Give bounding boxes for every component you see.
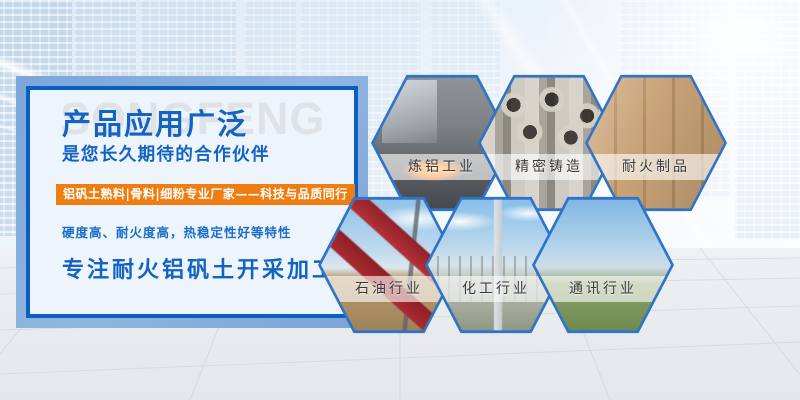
- highlight-badge: 铝矾土熟料|骨料|细粉专业厂家——科技与品质同行: [56, 184, 355, 205]
- tagline-text: 专注耐火铝矾土开采加工: [62, 260, 337, 282]
- hex-label: 耐火制品: [588, 154, 724, 180]
- page-title: 产品应用广泛: [62, 110, 248, 139]
- feature-text: 硬度高、耐火度高，热稳定性好等特性: [62, 227, 292, 240]
- text-panel: SONGFENG 产品应用广泛 是您长久期待的合作伙伴 铝矾土熟料|骨料|细粉专…: [44, 90, 364, 314]
- promo-banner: SONGFENG 产品应用广泛 是您长久期待的合作伙伴 铝矾土熟料|骨料|细粉专…: [0, 0, 800, 400]
- subtitle: 是您长久期待的合作伙伴: [62, 147, 270, 165]
- hex-label: 通讯行业: [535, 276, 671, 302]
